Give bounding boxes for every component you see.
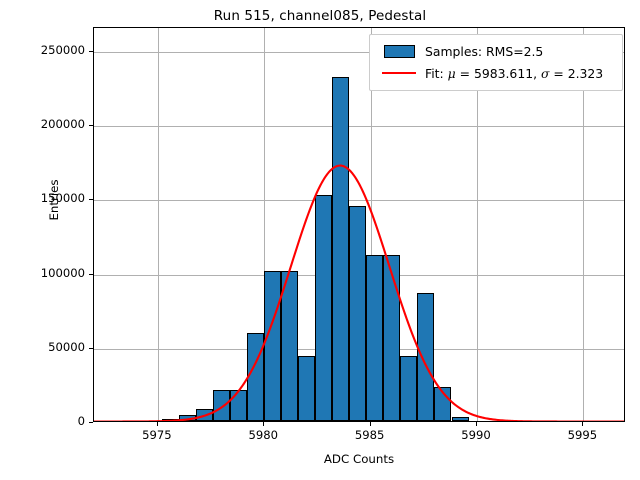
legend-sigma-value: = 2.323 bbox=[549, 66, 603, 81]
y-tick-label: 250000 bbox=[5, 43, 85, 57]
y-tick-mark bbox=[89, 51, 93, 52]
y-tick-mark bbox=[89, 422, 93, 423]
y-tick-mark bbox=[89, 199, 93, 200]
x-tick-mark bbox=[582, 422, 583, 426]
legend-bar-swatch-icon bbox=[377, 45, 421, 58]
y-tick-label: 150000 bbox=[5, 191, 85, 205]
chart-title: Run 515, channel085, Pedestal bbox=[0, 8, 640, 24]
legend-label-samples: Samples: RMS=2.5 bbox=[421, 44, 543, 59]
plot-area: Samples: RMS=2.5 Fit: μ = 5983.611, σ = … bbox=[93, 27, 625, 422]
legend-mu-value: = 5983.611, bbox=[456, 66, 541, 81]
x-tick-label: 5990 bbox=[441, 428, 511, 442]
legend-mu-symbol: μ bbox=[448, 66, 456, 81]
legend-entry-samples: Samples: RMS=2.5 bbox=[377, 40, 615, 62]
fit-path bbox=[94, 166, 624, 421]
x-tick-label: 5985 bbox=[335, 428, 405, 442]
y-axis-title: Entries bbox=[47, 140, 61, 260]
x-tick-label: 5995 bbox=[547, 428, 617, 442]
y-tick-mark bbox=[89, 348, 93, 349]
x-tick-label: 5980 bbox=[228, 428, 298, 442]
y-tick-mark bbox=[89, 125, 93, 126]
x-tick-mark bbox=[476, 422, 477, 426]
legend-fit-prefix: Fit: bbox=[425, 66, 448, 81]
y-tick-label: 0 bbox=[5, 414, 85, 428]
figure-canvas: Run 515, channel085, Pedestal Samples: R… bbox=[0, 0, 640, 480]
x-tick-mark bbox=[157, 422, 158, 426]
legend-label-fit: Fit: μ = 5983.611, σ = 2.323 bbox=[421, 66, 603, 81]
y-tick-label: 200000 bbox=[5, 117, 85, 131]
legend-line-swatch-icon bbox=[377, 72, 421, 74]
x-tick-label: 5975 bbox=[122, 428, 192, 442]
legend-entry-fit: Fit: μ = 5983.611, σ = 2.323 bbox=[377, 62, 615, 84]
x-tick-mark bbox=[370, 422, 371, 426]
y-tick-mark bbox=[89, 274, 93, 275]
x-tick-mark bbox=[263, 422, 264, 426]
x-axis-title: ADC Counts bbox=[93, 452, 625, 466]
y-tick-label: 50000 bbox=[5, 340, 85, 354]
legend-box[interactable]: Samples: RMS=2.5 Fit: μ = 5983.611, σ = … bbox=[369, 34, 623, 91]
y-tick-label: 100000 bbox=[5, 266, 85, 280]
